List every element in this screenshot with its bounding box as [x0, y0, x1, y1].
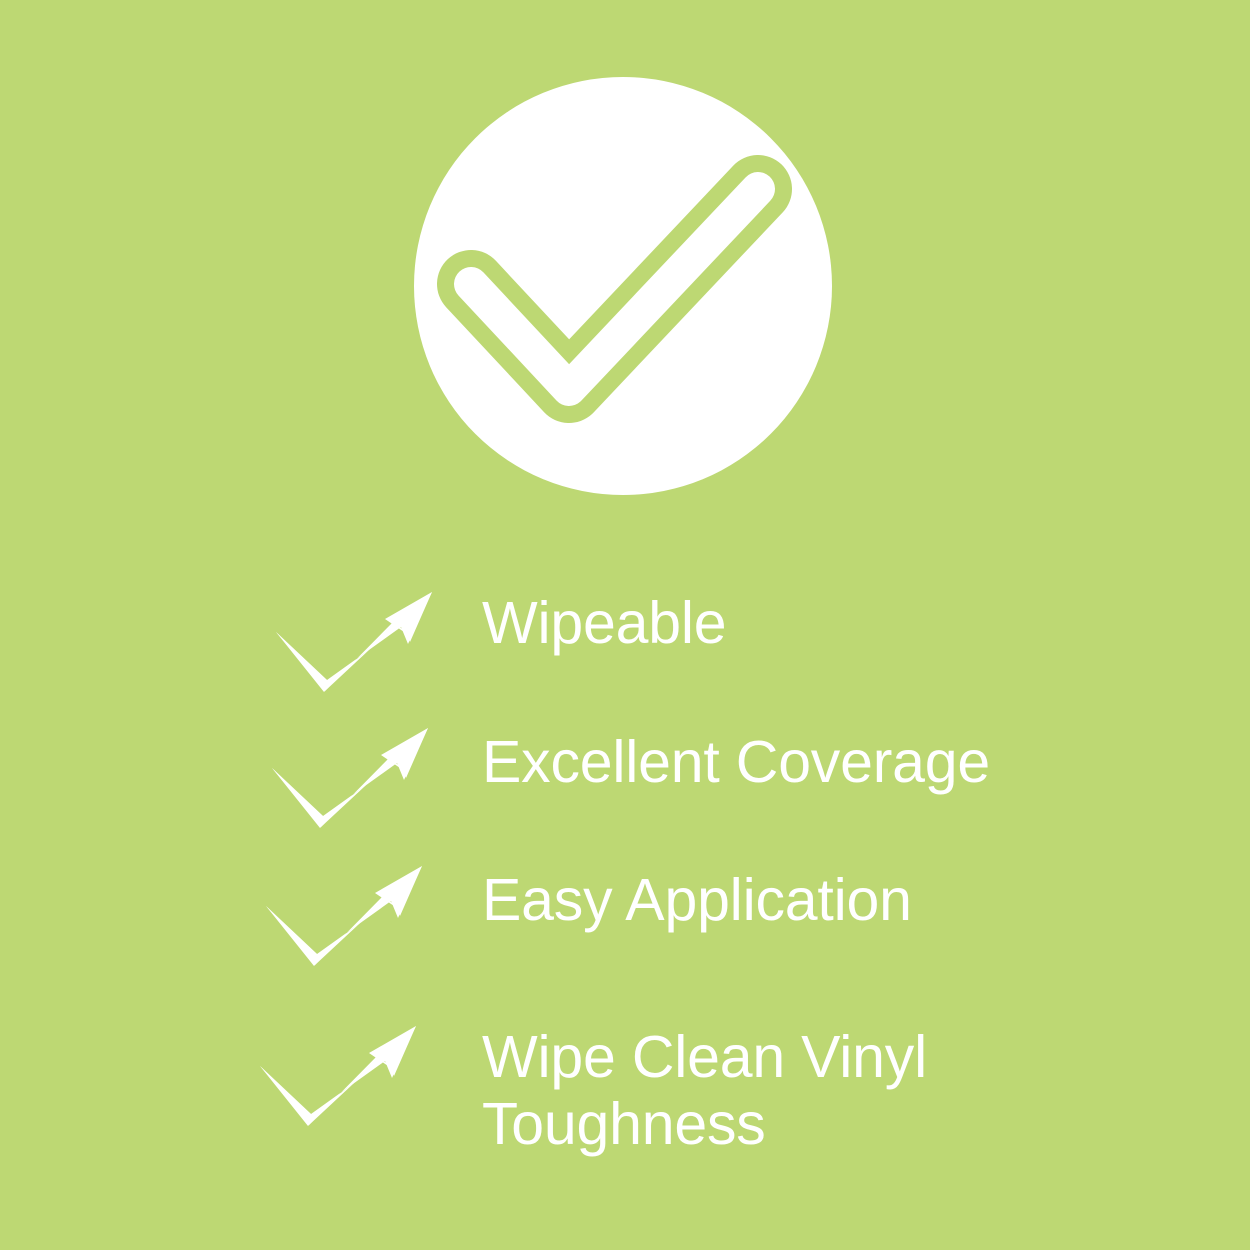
check-arrow-shape	[272, 728, 428, 828]
feature-label: Wipeable	[482, 590, 1182, 657]
hero-check-badge	[414, 77, 832, 495]
feature-label: Excellent Coverage	[482, 729, 1182, 796]
check-arrow-shape	[260, 1026, 416, 1126]
check-arrow-icon	[256, 1022, 436, 1137]
feature-panel: Wipeable Excellent Coverage Easy Applica…	[0, 0, 1250, 1250]
check-arrow-icon	[272, 588, 452, 703]
check-arrow-icon	[262, 862, 442, 977]
feature-label: Easy Application	[482, 867, 1182, 934]
check-arrow-icon	[268, 724, 448, 839]
feature-label: Wipe Clean Vinyl Toughness	[482, 1024, 1182, 1158]
check-arrow-shape	[276, 592, 432, 692]
check-arrow-shape	[266, 866, 422, 966]
check-circle-icon	[414, 77, 832, 495]
